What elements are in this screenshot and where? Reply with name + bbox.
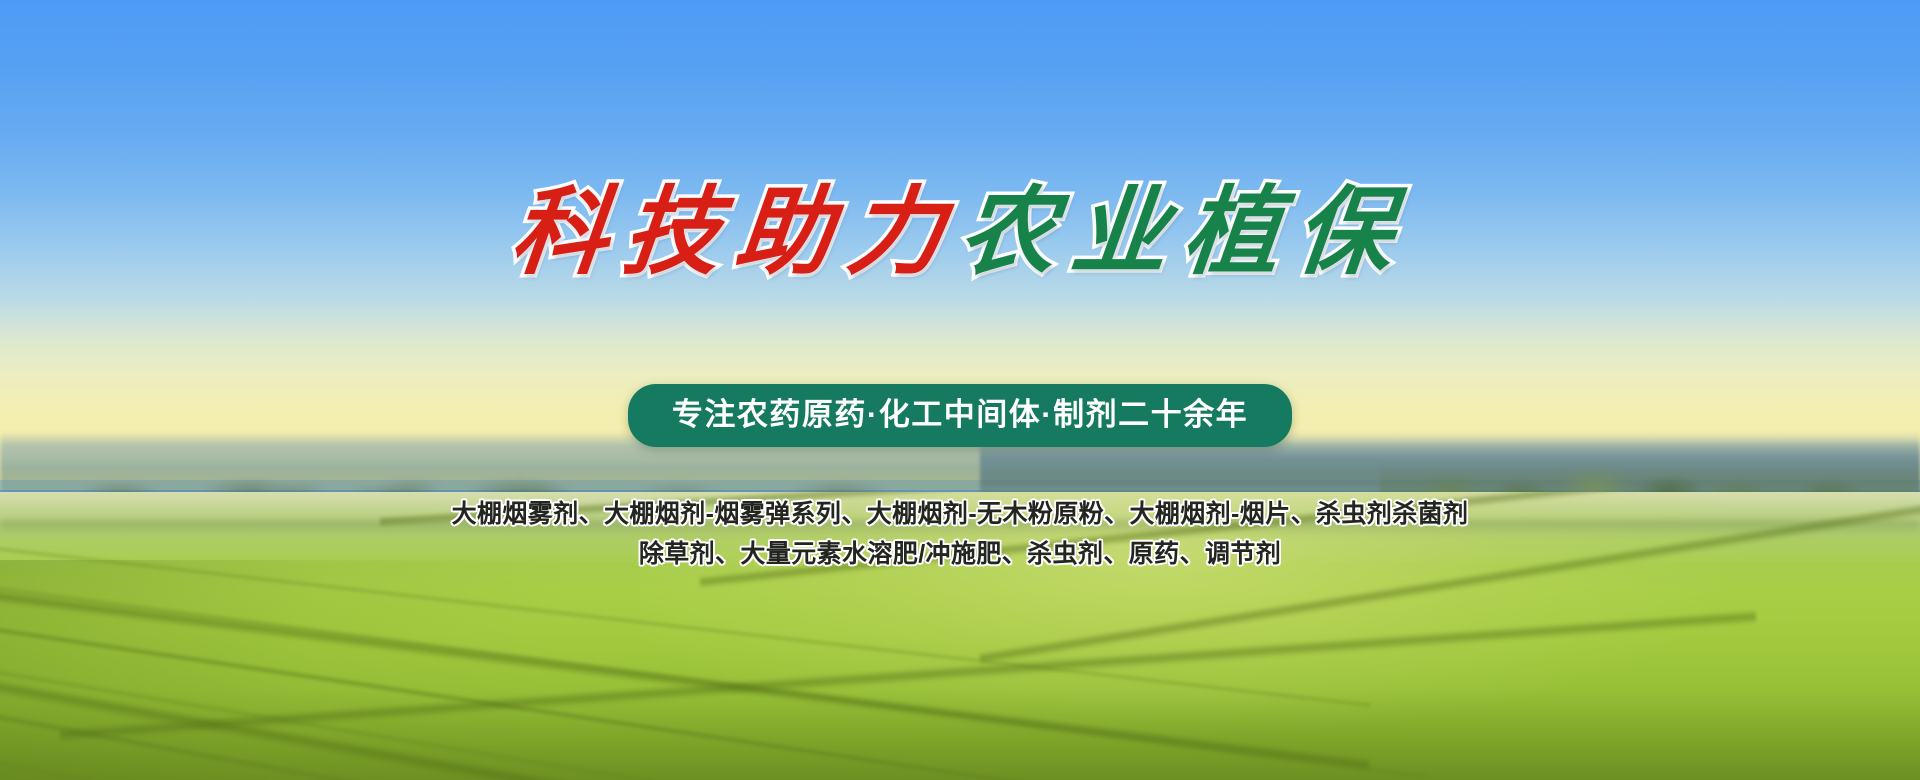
product-list: 大棚烟雾剂、大棚烟剂-烟雾弹系列、大棚烟剂-无木粉原粉、大棚烟剂-烟片、杀虫剂杀… — [0, 494, 1920, 574]
tagline-badge-container: 专注农药原药·化工中间体·制剂二十余年 — [0, 384, 1920, 447]
headline-segment-green: 农业植保 — [954, 176, 1414, 288]
page-title: 科技助力农业植保 — [0, 176, 1920, 288]
headline-segment-red: 科技助力 — [506, 176, 966, 288]
product-list-line-2: 除草剂、大量元素水溶肥/冲施肥、杀虫剂、原药、调节剂 — [0, 534, 1920, 574]
product-list-line-1: 大棚烟雾剂、大棚烟剂-烟雾弹系列、大棚烟剂-无木粉原粉、大棚烟剂-烟片、杀虫剂杀… — [0, 494, 1920, 534]
tagline-badge: 专注农药原药·化工中间体·制剂二十余年 — [628, 384, 1292, 447]
hero-banner: 科技助力农业植保 专注农药原药·化工中间体·制剂二十余年 大棚烟雾剂、大棚烟剂-… — [0, 0, 1920, 780]
